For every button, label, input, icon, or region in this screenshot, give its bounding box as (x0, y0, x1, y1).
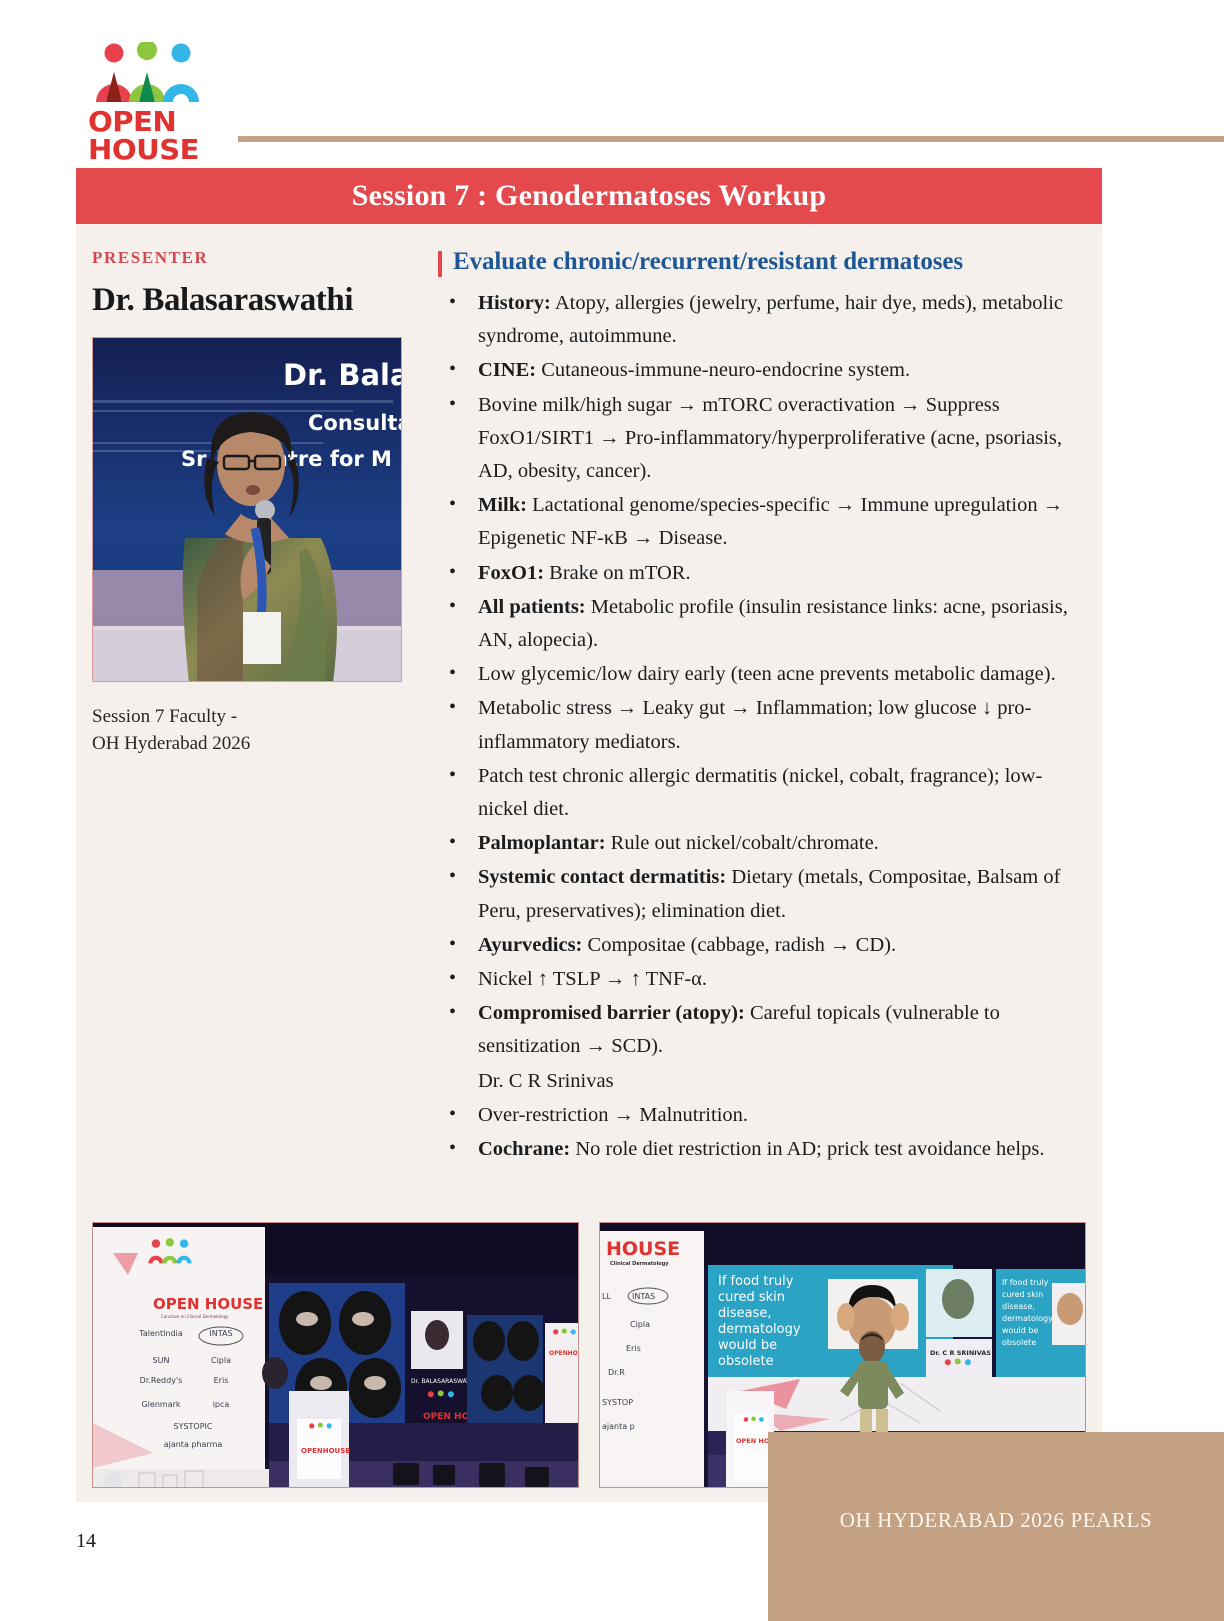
point-item: Compromised barrier (atopy): Careful top… (438, 997, 1090, 1063)
svg-text:Sr: Sr (181, 447, 207, 471)
point-item: Metabolic stress → Leaky gut → Inflammat… (438, 692, 1090, 758)
footer-label: OH HYDERABAD 2026 PEARLS (768, 1508, 1224, 1533)
masthead: OPEN HOUSE Clinical Dermatology Conclave… (0, 0, 1224, 150)
point-item: FoxO1: Brake on mTOR. (438, 557, 1090, 590)
svg-text:Conclave on Clinical Dermatolo: Conclave on Clinical Dermatology (161, 1314, 229, 1319)
point-text: Nickel ↑ TSLP → ↑ TNF-α. (478, 968, 707, 990)
conference-stage-sponsor-banner-photo: OPEN HOUSE Conclave on Clinical Dermatol… (92, 1222, 579, 1488)
point-text: Compositae (cabbage, radish → CD). (582, 934, 896, 956)
svg-text:OPENHOUSE: OPENHOUSE (301, 1447, 350, 1455)
presenter-label: PRESENTER (92, 248, 404, 268)
svg-text:Clinical Dermatology: Clinical Dermatology (610, 1261, 669, 1267)
svg-text:TalentIndia: TalentIndia (138, 1329, 183, 1338)
svg-text:dermatology: dermatology (718, 1322, 801, 1337)
content-column: Evaluate chronic/recurrent/resistant der… (438, 248, 1090, 1167)
svg-text:SYSTOPIC: SYSTOPIC (174, 1422, 213, 1431)
svg-text:Consultan: Consultan (308, 411, 402, 435)
svg-text:HOUSE: HOUSE (606, 1238, 680, 1260)
svg-text:disease,: disease, (1002, 1302, 1035, 1311)
point-lead: FoxO1: (478, 562, 544, 584)
svg-text:SUN: SUN (153, 1356, 170, 1365)
point-item: Cochrane: No role diet restriction in AD… (438, 1133, 1090, 1166)
point-item: Milk: Lactational genome/species-specifi… (438, 489, 1090, 555)
point-item: Ayurvedics: Compositae (cabbage, radish … (438, 929, 1090, 962)
point-lead: All patients: (478, 596, 586, 618)
svg-text:cured skin: cured skin (1002, 1290, 1043, 1299)
logo-wordmark: OPEN HOUSE (88, 108, 244, 164)
section-heading: Evaluate chronic/recurrent/resistant der… (438, 248, 1090, 277)
svg-text:Dr. Balas: Dr. Balas (283, 358, 402, 392)
svg-text:OPEN HOUSE: OPEN HOUSE (153, 1295, 263, 1313)
session-title: Session 7 : Genodermatoses Workup (352, 179, 826, 213)
point-lead: Compromised barrier (atopy): (478, 1002, 745, 1024)
svg-text:cured skin: cured skin (718, 1290, 785, 1305)
svg-text:obsolete: obsolete (718, 1354, 774, 1369)
svg-text:INTAS: INTAS (632, 1292, 655, 1301)
svg-text:obsolete: obsolete (1002, 1338, 1036, 1347)
svg-text:If food truly: If food truly (1002, 1278, 1049, 1287)
presenter-photo: Dr. Balas Consultan Sr n Centre for M (92, 337, 402, 682)
svg-text:SYSTOP: SYSTOP (602, 1398, 633, 1407)
svg-text:dermatology: dermatology (1002, 1314, 1053, 1323)
point-text: No role diet restriction in AD; prick te… (570, 1138, 1044, 1160)
point-item: Dr. C R Srinivas (438, 1065, 1090, 1098)
svg-text:Glenmark: Glenmark (141, 1400, 180, 1409)
svg-text:ajanta pharma: ajanta pharma (164, 1440, 223, 1449)
presenter-column: PRESENTER Dr. Balasaraswathi (92, 248, 404, 758)
svg-text:INTAS: INTAS (209, 1329, 232, 1338)
point-item: History: Atopy, allergies (jewelry, perf… (438, 287, 1090, 353)
svg-text:Cipla: Cipla (211, 1356, 231, 1365)
brand-logo: OPEN HOUSE Clinical Dermatology Conclave… (88, 42, 238, 177)
point-item: Low glycemic/low dairy early (teen acne … (438, 658, 1090, 691)
footer-tab: OH HYDERABAD 2026 PEARLS (768, 1432, 1224, 1621)
three-people-icon (88, 42, 208, 104)
point-text: Brake on mTOR. (544, 562, 691, 584)
point-text: Cutaneous-immune-neuro-endocrine system. (536, 359, 910, 381)
heading-accent-bar (438, 251, 442, 277)
point-text: Low glycemic/low dairy early (teen acne … (478, 663, 1056, 685)
svg-text:OPENHOUSE: OPENHOUSE (549, 1350, 579, 1357)
point-text: Dr. C R Srinivas (478, 1070, 614, 1092)
presenter-name: Dr. Balasaraswathi (92, 282, 404, 319)
presenter-photo-caption: Session 7 Faculty - OH Hyderabad 2026 (92, 704, 404, 758)
svg-text:ipca: ipca (213, 1400, 230, 1409)
point-text: Patch test chronic allergic dermatitis (… (478, 765, 1042, 820)
svg-text:Dr.R: Dr.R (608, 1368, 625, 1377)
point-text: Bovine milk/high sugar → mTORC overactiv… (478, 394, 1062, 482)
point-item: Palmoplantar: Rule out nickel/cobalt/chr… (438, 827, 1090, 860)
point-item: Bovine milk/high sugar → mTORC overactiv… (438, 389, 1090, 489)
point-item: All patients: Metabolic profile (insulin… (438, 591, 1090, 657)
svg-text:LL: LL (602, 1292, 611, 1301)
point-item: CINE: Cutaneous-immune-neuro-endocrine s… (438, 354, 1090, 387)
svg-text:would be: would be (1002, 1326, 1038, 1335)
svg-text:Dr. C R SRINIVAS: Dr. C R SRINIVAS (930, 1349, 991, 1357)
point-text: Rule out nickel/cobalt/chromate. (606, 832, 879, 854)
svg-text:ajanta p: ajanta p (602, 1422, 635, 1431)
svg-text:Cipla: Cipla (630, 1320, 650, 1329)
point-item: Patch test chronic allergic dermatitis (… (438, 760, 1090, 826)
point-item: Nickel ↑ TSLP → ↑ TNF-α. (438, 963, 1090, 996)
header-rule (238, 136, 1224, 142)
point-text: Atopy, allergies (jewelry, perfume, hair… (478, 292, 1063, 347)
session-title-bar: Session 7 : Genodermatoses Workup (76, 168, 1102, 224)
svg-text:If food truly: If food truly (718, 1274, 794, 1289)
svg-text:Dr. BALASARASWATHI: Dr. BALASARASWATHI (411, 1378, 476, 1385)
points-list: History: Atopy, allergies (jewelry, perf… (438, 287, 1090, 1166)
svg-text:would be: would be (718, 1338, 777, 1353)
page-number: 14 (76, 1530, 96, 1553)
point-lead: Ayurvedics: (478, 934, 582, 956)
svg-text:disease,: disease, (718, 1306, 772, 1321)
point-text: Metabolic stress → Leaky gut → Inflammat… (478, 697, 1031, 752)
section-heading-text: Evaluate chronic/recurrent/resistant der… (453, 248, 963, 276)
point-lead: Systemic contact dermatitis: (478, 866, 726, 888)
point-lead: Cochrane: (478, 1138, 570, 1160)
svg-text:Eris: Eris (626, 1344, 641, 1353)
point-lead: History: (478, 292, 551, 314)
point-item: Over-restriction → Malnutrition. (438, 1099, 1090, 1132)
point-text: Over-restriction → Malnutrition. (478, 1104, 748, 1126)
point-lead: Palmoplantar: (478, 832, 606, 854)
point-lead: Milk: (478, 494, 527, 516)
svg-text:Dr.Reddy's: Dr.Reddy's (140, 1376, 183, 1385)
point-lead: CINE: (478, 359, 536, 381)
point-text: Lactational genome/species-specific → Im… (478, 494, 1063, 549)
point-item: Systemic contact dermatitis: Dietary (me… (438, 861, 1090, 927)
svg-text:Eris: Eris (214, 1376, 229, 1385)
